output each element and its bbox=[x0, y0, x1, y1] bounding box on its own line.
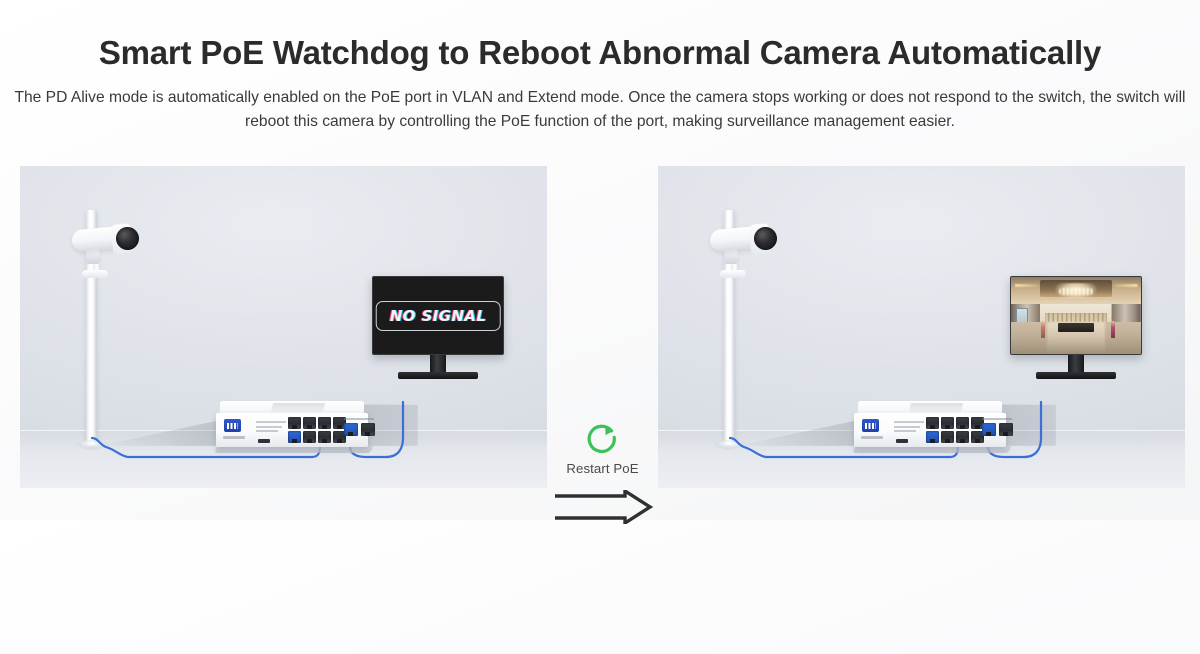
switch-led-legend bbox=[256, 421, 288, 437]
camera-offline-scene: NO SIGNAL bbox=[20, 166, 547, 488]
rj45-port[interactable] bbox=[318, 431, 331, 443]
rj45-port-connected[interactable] bbox=[926, 431, 939, 443]
monitor-screen bbox=[1010, 276, 1142, 355]
rj45-port[interactable] bbox=[288, 417, 301, 429]
page-header: Smart PoE Watchdog to Reboot Abnormal Ca… bbox=[0, 0, 1200, 133]
restart-poe-transition: Restart PoE bbox=[547, 332, 658, 654]
uplink-port-bank bbox=[344, 423, 375, 436]
feed-reception-desk bbox=[1058, 323, 1094, 332]
switch-top-branding bbox=[909, 403, 963, 412]
switch-top-branding bbox=[271, 403, 325, 412]
rj45-port[interactable] bbox=[956, 431, 969, 443]
uplink-port-connected[interactable] bbox=[982, 423, 996, 436]
rj45-port[interactable] bbox=[318, 417, 331, 429]
feed-chandelier bbox=[1055, 283, 1097, 299]
switch-reset-button[interactable] bbox=[258, 439, 270, 443]
refresh-circular-arrow-icon bbox=[585, 420, 621, 456]
feed-column-right bbox=[1112, 304, 1141, 324]
switch-brand-logo bbox=[224, 419, 241, 432]
switch-reset-button[interactable] bbox=[896, 439, 908, 443]
monitor-base bbox=[398, 372, 478, 379]
switch-led-legend bbox=[894, 421, 926, 437]
rj45-port-bank bbox=[288, 417, 346, 443]
page-title: Smart PoE Watchdog to Reboot Abnormal Ca… bbox=[0, 34, 1200, 72]
right-arrow-icon bbox=[553, 490, 653, 524]
camera-restored-scene bbox=[658, 166, 1185, 488]
switch-brand-logo bbox=[862, 419, 879, 432]
feed-person bbox=[1111, 321, 1115, 338]
uplink-port[interactable] bbox=[361, 423, 375, 436]
rj45-port-connected[interactable] bbox=[288, 431, 301, 443]
display-monitor: NO SIGNAL bbox=[372, 276, 504, 384]
poe-switch bbox=[216, 401, 368, 453]
switch-front-panel bbox=[216, 413, 368, 447]
live-camera-feed bbox=[1011, 277, 1141, 354]
rj45-port[interactable] bbox=[926, 417, 939, 429]
monitor-screen: NO SIGNAL bbox=[372, 276, 504, 355]
feed-cove-light-right bbox=[1114, 284, 1137, 287]
uplink-port-label bbox=[982, 418, 1012, 420]
feed-cove-light-left bbox=[1015, 284, 1038, 287]
rj45-port[interactable] bbox=[303, 417, 316, 429]
rj45-port[interactable] bbox=[941, 417, 954, 429]
rj45-port[interactable] bbox=[303, 431, 316, 443]
rj45-port[interactable] bbox=[941, 431, 954, 443]
rj45-port[interactable] bbox=[956, 417, 969, 429]
monitor-base bbox=[1036, 372, 1116, 379]
figure-row: NO SIGNAL Restart PoE bbox=[0, 166, 1200, 488]
uplink-port[interactable] bbox=[999, 423, 1013, 436]
no-signal-text: NO SIGNAL bbox=[390, 307, 487, 325]
restart-poe-label: Restart PoE bbox=[566, 461, 638, 476]
no-signal-badge: NO SIGNAL bbox=[376, 301, 501, 331]
page-subtitle: The PD Alive mode is automatically enabl… bbox=[14, 86, 1186, 133]
uplink-port-label bbox=[344, 418, 374, 420]
switch-model-text bbox=[861, 436, 883, 439]
rj45-port-bank bbox=[926, 417, 984, 443]
uplink-port-bank bbox=[982, 423, 1013, 436]
uplink-port-connected[interactable] bbox=[344, 423, 358, 436]
display-monitor bbox=[1010, 276, 1142, 384]
switch-model-text bbox=[223, 436, 245, 439]
switch-front-panel bbox=[854, 413, 1006, 447]
poe-switch bbox=[854, 401, 1006, 453]
feed-person bbox=[1041, 321, 1045, 338]
